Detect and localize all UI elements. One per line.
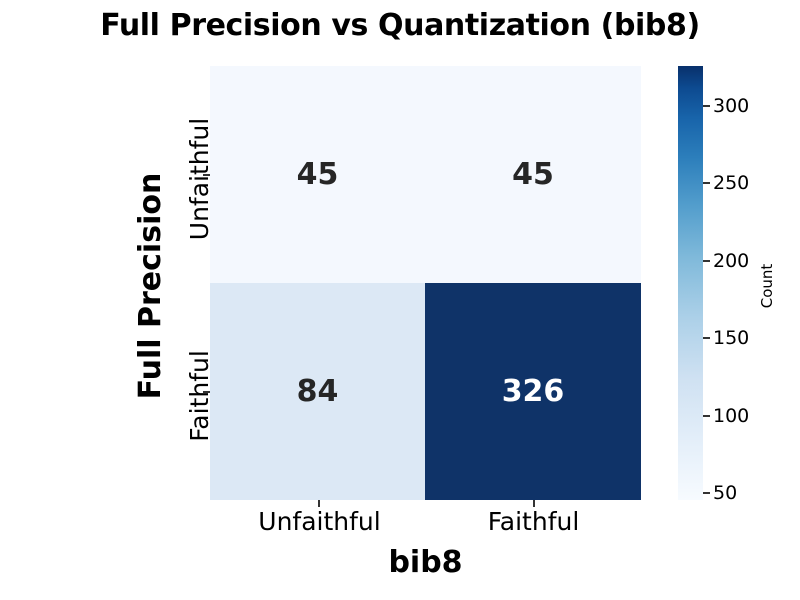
colorbar-tick-label-250: 250	[713, 171, 749, 195]
x-axis-label: bib8	[210, 545, 641, 580]
colorbar-tick-mark-150	[703, 337, 710, 339]
colorbar-tick-mark-100	[703, 415, 710, 417]
x-tick-label-faithful: Faithful	[426, 506, 641, 538]
colorbar-tick-mark-200	[703, 260, 710, 262]
colorbar-tick-mark-300	[703, 105, 710, 107]
colorbar-tick-mark-250	[703, 182, 710, 184]
y-axis-label: Full Precision	[133, 116, 169, 456]
heatmap-cell-unfaithful-unfaithful[interactable]: 45	[210, 66, 425, 283]
colorbar-gradient	[678, 66, 703, 500]
colorbar	[678, 66, 703, 500]
heatmap-cell-value: 45	[297, 160, 339, 190]
heatmap-cell-faithful-faithful[interactable]: 326	[425, 283, 641, 500]
heatmap-cell-value: 84	[297, 377, 339, 407]
heatmap-cell-value: 326	[502, 377, 565, 407]
heatmap-cell-faithful-unfaithful[interactable]: 84	[210, 283, 425, 500]
colorbar-tick-label-100: 100	[713, 404, 749, 428]
colorbar-tick-label-150: 150	[713, 326, 749, 350]
heatmap-cell-value: 45	[512, 160, 554, 190]
page-title: Full Precision vs Quantization (bib8)	[0, 8, 800, 43]
colorbar-axis-label: Count	[756, 226, 778, 346]
heatmap-cell-unfaithful-faithful[interactable]: 45	[425, 66, 641, 283]
y-tick-label-unfaithful: Unfaithful	[185, 79, 215, 279]
colorbar-tick-mark-50	[703, 492, 710, 494]
heatmap-grid: 45 45 84 326	[210, 66, 641, 500]
colorbar-tick-label-200: 200	[713, 249, 749, 273]
confusion-matrix-figure: Full Precision vs Quantization (bib8) 45…	[0, 0, 800, 600]
colorbar-tick-label-300: 300	[713, 94, 749, 118]
y-tick-label-faithful: Faithful	[185, 314, 215, 478]
x-tick-label-unfaithful: Unfaithful	[212, 506, 427, 538]
colorbar-tick-label-50: 50	[713, 481, 737, 505]
